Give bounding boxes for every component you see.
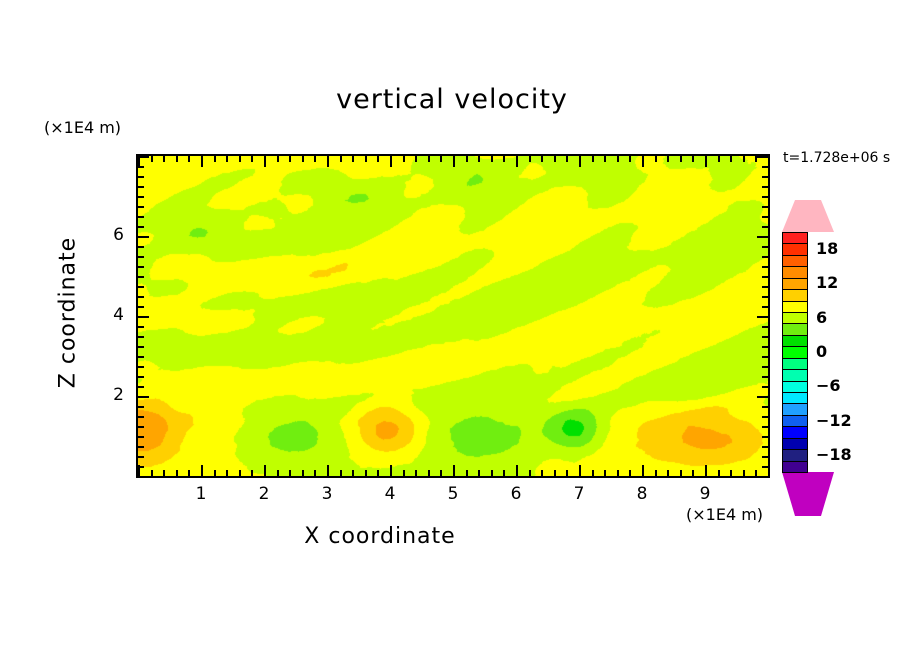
- x-minor-tick-top: [692, 156, 694, 162]
- colorbar-over-arrow: [782, 200, 834, 232]
- y-minor-tick: [138, 456, 144, 458]
- y-minor-tick: [138, 206, 144, 208]
- y-minor-tick: [138, 366, 144, 368]
- x-minor-tick: [629, 470, 631, 476]
- colorbar-tick-label: 0: [816, 342, 827, 361]
- x-minor-tick: [692, 470, 694, 476]
- x-minor-tick-top: [629, 156, 631, 162]
- x-minor-tick: [314, 470, 316, 476]
- x-minor-tick: [377, 470, 379, 476]
- x-minor-tick-top: [554, 156, 556, 162]
- y-tick-label: 2: [94, 385, 124, 405]
- x-minor-tick: [566, 470, 568, 476]
- x-major-tick-top: [579, 156, 581, 167]
- colorbar-band: [782, 461, 808, 473]
- y-major-tick-right: [757, 396, 768, 398]
- x-major-tick-top: [768, 156, 770, 167]
- x-minor-tick-top: [466, 156, 468, 162]
- y-minor-tick: [138, 376, 144, 378]
- x-minor-tick-top: [503, 156, 505, 162]
- x-major-tick-top: [201, 156, 203, 167]
- y-minor-tick-right: [762, 296, 768, 298]
- x-minor-tick: [491, 470, 493, 476]
- x-minor-tick-top: [667, 156, 669, 162]
- x-minor-tick: [503, 470, 505, 476]
- x-minor-tick-top: [529, 156, 531, 162]
- page-title: vertical velocity: [0, 84, 904, 115]
- x-major-tick: [390, 465, 392, 476]
- y-minor-tick: [138, 426, 144, 428]
- y-minor-tick: [138, 306, 144, 308]
- y-minor-tick-right: [762, 386, 768, 388]
- contour-plot-area[interactable]: [136, 154, 770, 478]
- time-annotation: t=1.728e+06 s: [783, 150, 890, 166]
- x-minor-tick-top: [415, 156, 417, 162]
- x-minor-tick-top: [163, 156, 165, 162]
- y-minor-tick-right: [762, 376, 768, 378]
- x-tick-label: 1: [186, 484, 216, 504]
- x-minor-tick: [415, 470, 417, 476]
- x-minor-tick-top: [617, 156, 619, 162]
- y-minor-tick-right: [762, 436, 768, 438]
- x-minor-tick-top: [340, 156, 342, 162]
- x-minor-tick: [176, 470, 178, 476]
- y-minor-tick-right: [762, 276, 768, 278]
- y-minor-tick-right: [762, 206, 768, 208]
- x-major-tick-top: [516, 156, 518, 167]
- y-minor-tick-right: [762, 466, 768, 468]
- y-minor-tick: [138, 276, 144, 278]
- y-minor-tick-right: [762, 346, 768, 348]
- x-tick-label: 2: [249, 484, 279, 504]
- colorbar-tick-label: 18: [816, 239, 838, 258]
- x-minor-tick-top: [251, 156, 253, 162]
- y-major-tick-right: [757, 236, 768, 238]
- y-minor-tick: [138, 196, 144, 198]
- x-minor-tick-top: [226, 156, 228, 162]
- x-minor-tick-top: [277, 156, 279, 162]
- x-tick-label: 9: [690, 484, 720, 504]
- y-minor-tick-right: [762, 356, 768, 358]
- y-minor-tick-right: [762, 446, 768, 448]
- x-minor-tick-top: [188, 156, 190, 162]
- y-minor-tick: [138, 436, 144, 438]
- y-minor-tick-right: [762, 256, 768, 258]
- colorbar-tick-label: 12: [816, 273, 838, 292]
- x-minor-tick: [743, 470, 745, 476]
- y-minor-tick: [138, 246, 144, 248]
- x-tick-label: 7: [564, 484, 594, 504]
- x-minor-tick-top: [302, 156, 304, 162]
- x-minor-tick-top: [176, 156, 178, 162]
- x-minor-tick: [151, 470, 153, 476]
- x-minor-tick-top: [151, 156, 153, 162]
- y-minor-tick-right: [762, 366, 768, 368]
- y-tick-label: 6: [94, 225, 124, 245]
- x-minor-tick-top: [730, 156, 732, 162]
- x-minor-tick-top: [478, 156, 480, 162]
- y-minor-tick-right: [762, 266, 768, 268]
- x-minor-tick: [466, 470, 468, 476]
- x-major-tick-top: [264, 156, 266, 167]
- x-major-tick: [768, 465, 770, 476]
- x-major-tick: [705, 465, 707, 476]
- x-minor-tick: [428, 470, 430, 476]
- colorbar[interactable]: 181260−6−12−18: [782, 232, 808, 472]
- x-minor-tick: [478, 470, 480, 476]
- y-minor-tick: [138, 296, 144, 298]
- x-minor-tick: [655, 470, 657, 476]
- x-minor-tick-top: [377, 156, 379, 162]
- x-minor-tick-top: [428, 156, 430, 162]
- x-axis-unit-label: (×1E4 m): [686, 505, 763, 524]
- y-axis-unit-label: (×1E4 m): [44, 118, 121, 137]
- x-minor-tick: [239, 470, 241, 476]
- x-minor-tick: [188, 470, 190, 476]
- x-minor-tick-top: [592, 156, 594, 162]
- y-minor-tick-right: [762, 456, 768, 458]
- colorbar-tick-label: −6: [816, 376, 841, 395]
- y-minor-tick: [138, 406, 144, 408]
- title-text: vertical velocity: [336, 84, 568, 115]
- colorbar-tick-label: −12: [816, 411, 852, 430]
- x-major-tick: [516, 465, 518, 476]
- y-minor-tick: [138, 186, 144, 188]
- y-minor-tick-right: [762, 166, 768, 168]
- x-minor-tick: [163, 470, 165, 476]
- figure-root: vertical velocity (×1E4 m) t=1.728e+06 s…: [0, 0, 904, 654]
- y-minor-tick-right: [762, 186, 768, 188]
- x-minor-tick: [340, 470, 342, 476]
- y-minor-tick: [138, 266, 144, 268]
- x-minor-tick-top: [541, 156, 543, 162]
- y-minor-tick: [138, 446, 144, 448]
- y-major-tick: [138, 476, 149, 478]
- y-minor-tick-right: [762, 406, 768, 408]
- x-minor-tick: [592, 470, 594, 476]
- x-major-tick: [201, 465, 203, 476]
- x-minor-tick-top: [214, 156, 216, 162]
- x-minor-tick: [214, 470, 216, 476]
- y-minor-tick: [138, 386, 144, 388]
- y-major-tick: [138, 396, 149, 398]
- y-minor-tick: [138, 166, 144, 168]
- x-major-tick-top: [453, 156, 455, 167]
- x-minor-tick-top: [743, 156, 745, 162]
- y-minor-tick: [138, 466, 144, 468]
- x-major-tick: [264, 465, 266, 476]
- y-major-tick-right: [757, 316, 768, 318]
- x-minor-tick-top: [365, 156, 367, 162]
- y-minor-tick: [138, 216, 144, 218]
- x-minor-tick: [251, 470, 253, 476]
- colorbar-under-arrow: [782, 472, 834, 516]
- y-minor-tick: [138, 346, 144, 348]
- colorbar-tick-label: 6: [816, 308, 827, 327]
- x-tick-label: 3: [312, 484, 342, 504]
- y-minor-tick-right: [762, 286, 768, 288]
- x-minor-tick-top: [566, 156, 568, 162]
- y-minor-tick-right: [762, 336, 768, 338]
- x-minor-tick-top: [655, 156, 657, 162]
- x-minor-tick: [718, 470, 720, 476]
- x-minor-tick-top: [680, 156, 682, 162]
- x-minor-tick: [277, 470, 279, 476]
- x-minor-tick: [730, 470, 732, 476]
- y-minor-tick-right: [762, 246, 768, 248]
- x-minor-tick-top: [491, 156, 493, 162]
- x-minor-tick: [440, 470, 442, 476]
- x-minor-tick: [352, 470, 354, 476]
- x-minor-tick: [529, 470, 531, 476]
- y-major-tick: [138, 156, 149, 158]
- x-minor-tick: [365, 470, 367, 476]
- y-axis-title: Z coordinate: [56, 203, 81, 423]
- x-major-tick: [579, 465, 581, 476]
- y-minor-tick: [138, 176, 144, 178]
- y-minor-tick: [138, 336, 144, 338]
- y-minor-tick-right: [762, 176, 768, 178]
- x-major-tick: [642, 465, 644, 476]
- x-tick-label: 4: [375, 484, 405, 504]
- x-minor-tick: [289, 470, 291, 476]
- y-minor-tick: [138, 226, 144, 228]
- y-minor-tick-right: [762, 326, 768, 328]
- x-axis-title: X coordinate: [0, 524, 760, 549]
- y-minor-tick: [138, 416, 144, 418]
- y-minor-tick: [138, 256, 144, 258]
- colorbar-tick-label: −18: [816, 445, 852, 464]
- x-major-tick-top: [327, 156, 329, 167]
- y-major-tick: [138, 316, 149, 318]
- x-minor-tick: [617, 470, 619, 476]
- y-minor-tick-right: [762, 196, 768, 198]
- x-tick-label: 5: [438, 484, 468, 504]
- x-minor-tick: [554, 470, 556, 476]
- y-minor-tick-right: [762, 306, 768, 308]
- x-minor-tick-top: [440, 156, 442, 162]
- y-minor-tick: [138, 356, 144, 358]
- x-minor-tick-top: [718, 156, 720, 162]
- x-major-tick-top: [642, 156, 644, 167]
- contour-field-canvas: [138, 156, 768, 476]
- y-tick-label: 4: [94, 305, 124, 325]
- x-minor-tick: [541, 470, 543, 476]
- x-major-tick-top: [390, 156, 392, 167]
- x-minor-tick: [667, 470, 669, 476]
- x-major-tick-top: [705, 156, 707, 167]
- x-tick-label: 6: [501, 484, 531, 504]
- y-minor-tick-right: [762, 216, 768, 218]
- x-major-tick: [453, 465, 455, 476]
- y-minor-tick: [138, 286, 144, 288]
- x-minor-tick: [403, 470, 405, 476]
- x-minor-tick-top: [289, 156, 291, 162]
- y-minor-tick-right: [762, 226, 768, 228]
- x-minor-tick-top: [239, 156, 241, 162]
- y-major-tick-right: [757, 476, 768, 478]
- x-minor-tick-top: [604, 156, 606, 162]
- x-minor-tick: [302, 470, 304, 476]
- y-minor-tick: [138, 326, 144, 328]
- x-minor-tick: [226, 470, 228, 476]
- y-minor-tick-right: [762, 426, 768, 428]
- y-major-tick-right: [757, 156, 768, 158]
- x-minor-tick-top: [314, 156, 316, 162]
- x-minor-tick: [604, 470, 606, 476]
- x-tick-label: 8: [627, 484, 657, 504]
- x-major-tick: [327, 465, 329, 476]
- y-minor-tick-right: [762, 416, 768, 418]
- x-minor-tick: [680, 470, 682, 476]
- x-minor-tick-top: [352, 156, 354, 162]
- x-minor-tick-top: [403, 156, 405, 162]
- y-major-tick: [138, 236, 149, 238]
